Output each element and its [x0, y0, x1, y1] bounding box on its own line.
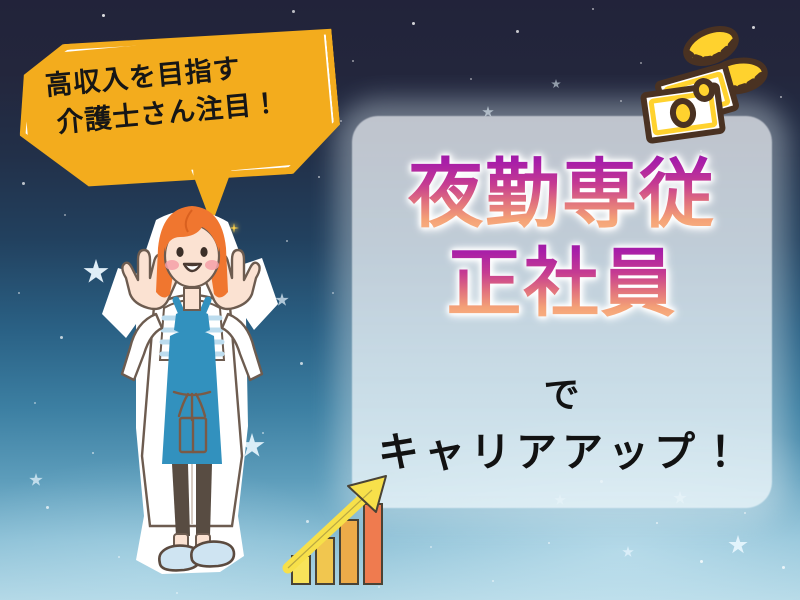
speech-bubble: 高収入を目指す 介護士さん注目！ — [12, 20, 344, 198]
headline-line-2: 正社員 — [362, 239, 762, 328]
sparkle-star — [551, 79, 561, 89]
growth-chart-icon — [276, 462, 406, 592]
chart-bar — [364, 504, 382, 584]
headline: 夜勤専従 正社員 — [362, 150, 762, 327]
subheadline-particle: で — [362, 376, 762, 416]
chart-bar — [340, 520, 358, 584]
night-shift-recruitment-banner: 高収入を目指す 介護士さん注目！ — [0, 0, 800, 600]
subheadline: で キャリアアップ！ — [362, 376, 762, 475]
subheadline-phrase: キャリアアップ！ — [362, 430, 762, 475]
sparkle-star — [29, 473, 43, 487]
headline-line-1: 夜勤専従 — [362, 150, 762, 239]
sparkle-star — [728, 535, 748, 555]
money-icon — [638, 22, 798, 152]
sparkle-star — [622, 546, 634, 558]
caregiver-illustration — [96, 196, 286, 586]
speech-bubble-text: 高収入を目指す 介護士さん注目！ — [12, 20, 344, 198]
